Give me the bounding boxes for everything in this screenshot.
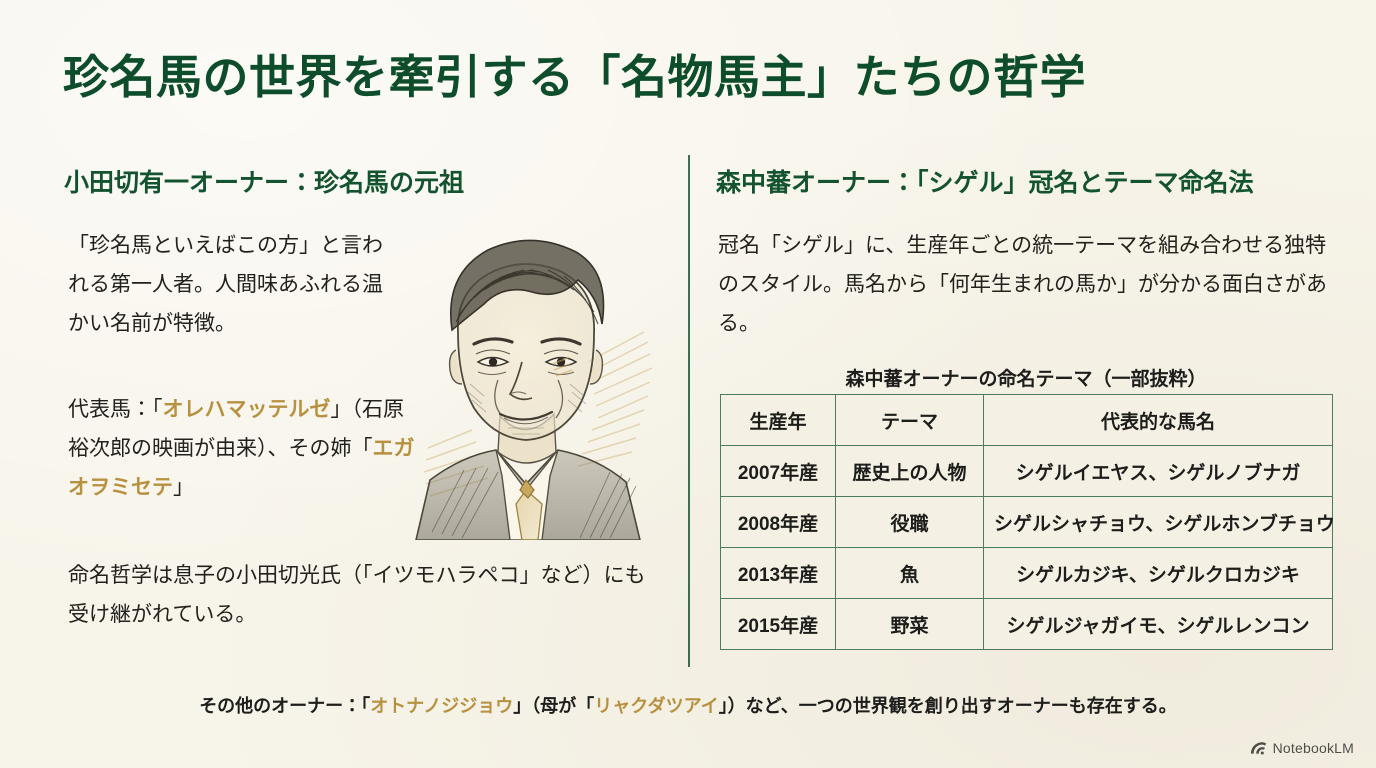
cell-theme: 役職 bbox=[836, 497, 984, 548]
left-column-paragraph-1: 「珍名馬といえばこの方」と言われる第一人者。人間味あふれる温かい名前が特徴。 bbox=[68, 226, 398, 343]
cell-horses: シゲルカジキ、シゲルクロカジキ bbox=[984, 548, 1333, 599]
naming-theme-table: 生産年 テーマ 代表的な馬名 2007年産 歴史上の人物 シゲルイエヤス、シゲル… bbox=[720, 394, 1333, 650]
left-paragraph-3-text: 命名哲学は息子の小田切光氏（「イツモハラペコ」など）にも受け継がれている。 bbox=[68, 564, 646, 626]
notebooklm-watermark: NotebookLM bbox=[1250, 740, 1354, 756]
right-column-paragraph-1: 冠名「シゲル」に、生産年ごとの統一テーマを組み合わせる独特のスタイル。馬名から「… bbox=[718, 226, 1336, 343]
right-column-heading: 森中蕃オーナー：「シゲル」冠名とテーマ命名法 bbox=[716, 163, 1254, 199]
cell-year: 2013年産 bbox=[721, 548, 836, 599]
left-column-heading: 小田切有一オーナー：珍名馬の元祖 bbox=[64, 163, 464, 199]
footer-middle: 」（母が「 bbox=[513, 696, 594, 716]
representative-horse-prefix: 代表馬：「 bbox=[68, 398, 163, 421]
cell-horses: シゲルシャチョウ、シゲルホンブチョウ bbox=[984, 497, 1333, 548]
footer-prefix: その他のオーナー：「 bbox=[199, 696, 370, 716]
left-column-paragraph-3: 命名哲学は息子の小田切光氏（「イツモハラペコ」など）にも受け継がれている。 bbox=[68, 556, 648, 634]
horse-name-otonanojijou: オトナノジジョウ bbox=[370, 696, 513, 716]
footer-note: その他のオーナー：「オトナノジジョウ」（母が「リャクダツアイ」）など、一つの世界… bbox=[0, 692, 1376, 718]
owner-portrait-illustration bbox=[392, 212, 660, 540]
table-row: 2007年産 歴史上の人物 シゲルイエヤス、シゲルノブナガ bbox=[721, 446, 1333, 497]
theme-table-caption: 森中蕃オーナーの命名テーマ（一部抜粋） bbox=[718, 364, 1334, 391]
footer-suffix: 」）など、一つの世界観を創り出すオーナーも存在する。 bbox=[719, 696, 1177, 716]
left-paragraph-1-text: 「珍名馬といえばこの方」と言われる第一人者。人間味あふれる温かい名前が特徴。 bbox=[68, 226, 398, 343]
cell-year: 2008年産 bbox=[721, 497, 836, 548]
horse-name-ryakudatsuai: リャクダツアイ bbox=[594, 696, 718, 716]
table-header-row: 生産年 テーマ 代表的な馬名 bbox=[721, 395, 1333, 446]
table-header-theme: テーマ bbox=[836, 395, 984, 446]
notebooklm-logo-icon bbox=[1250, 741, 1267, 755]
table-row: 2013年産 魚 シゲルカジキ、シゲルクロカジキ bbox=[721, 548, 1333, 599]
slide-canvas: 珍名馬の世界を牽引する「名物馬主」たちの哲学 小田切有一オーナー：珍名馬の元祖 … bbox=[0, 0, 1376, 768]
cell-year: 2015年産 bbox=[721, 599, 836, 650]
cell-theme: 魚 bbox=[836, 548, 984, 599]
horse-name-orehamatteruze: オレハマッテルゼ bbox=[163, 398, 331, 421]
cell-horses: シゲルジャガイモ、シゲルレンコン bbox=[984, 599, 1333, 650]
page-title: 珍名馬の世界を牽引する「名物馬主」たちの哲学 bbox=[63, 41, 1086, 107]
representative-horse-suffix: 」 bbox=[173, 476, 194, 499]
notebooklm-label: NotebookLM bbox=[1273, 740, 1354, 756]
table-row: 2015年産 野菜 シゲルジャガイモ、シゲルレンコン bbox=[721, 599, 1333, 650]
cell-year: 2007年産 bbox=[721, 446, 836, 497]
right-paragraph-1-text: 冠名「シゲル」に、生産年ごとの統一テーマを組み合わせる独特のスタイル。馬名から「… bbox=[718, 234, 1327, 335]
table-header-year: 生産年 bbox=[721, 395, 836, 446]
column-divider bbox=[688, 155, 690, 667]
left-column-paragraph-2: 代表馬：「オレハマッテルゼ」（石原裕次郎の映画が由来）、その姉「エガオヲミセテ」 bbox=[68, 390, 418, 507]
table-row: 2008年産 役職 シゲルシャチョウ、シゲルホンブチョウ bbox=[721, 497, 1333, 548]
table-header-horses: 代表的な馬名 bbox=[984, 395, 1333, 446]
cell-theme: 歴史上の人物 bbox=[836, 446, 984, 497]
cell-theme: 野菜 bbox=[836, 599, 984, 650]
cell-horses: シゲルイエヤス、シゲルノブナガ bbox=[984, 446, 1333, 497]
